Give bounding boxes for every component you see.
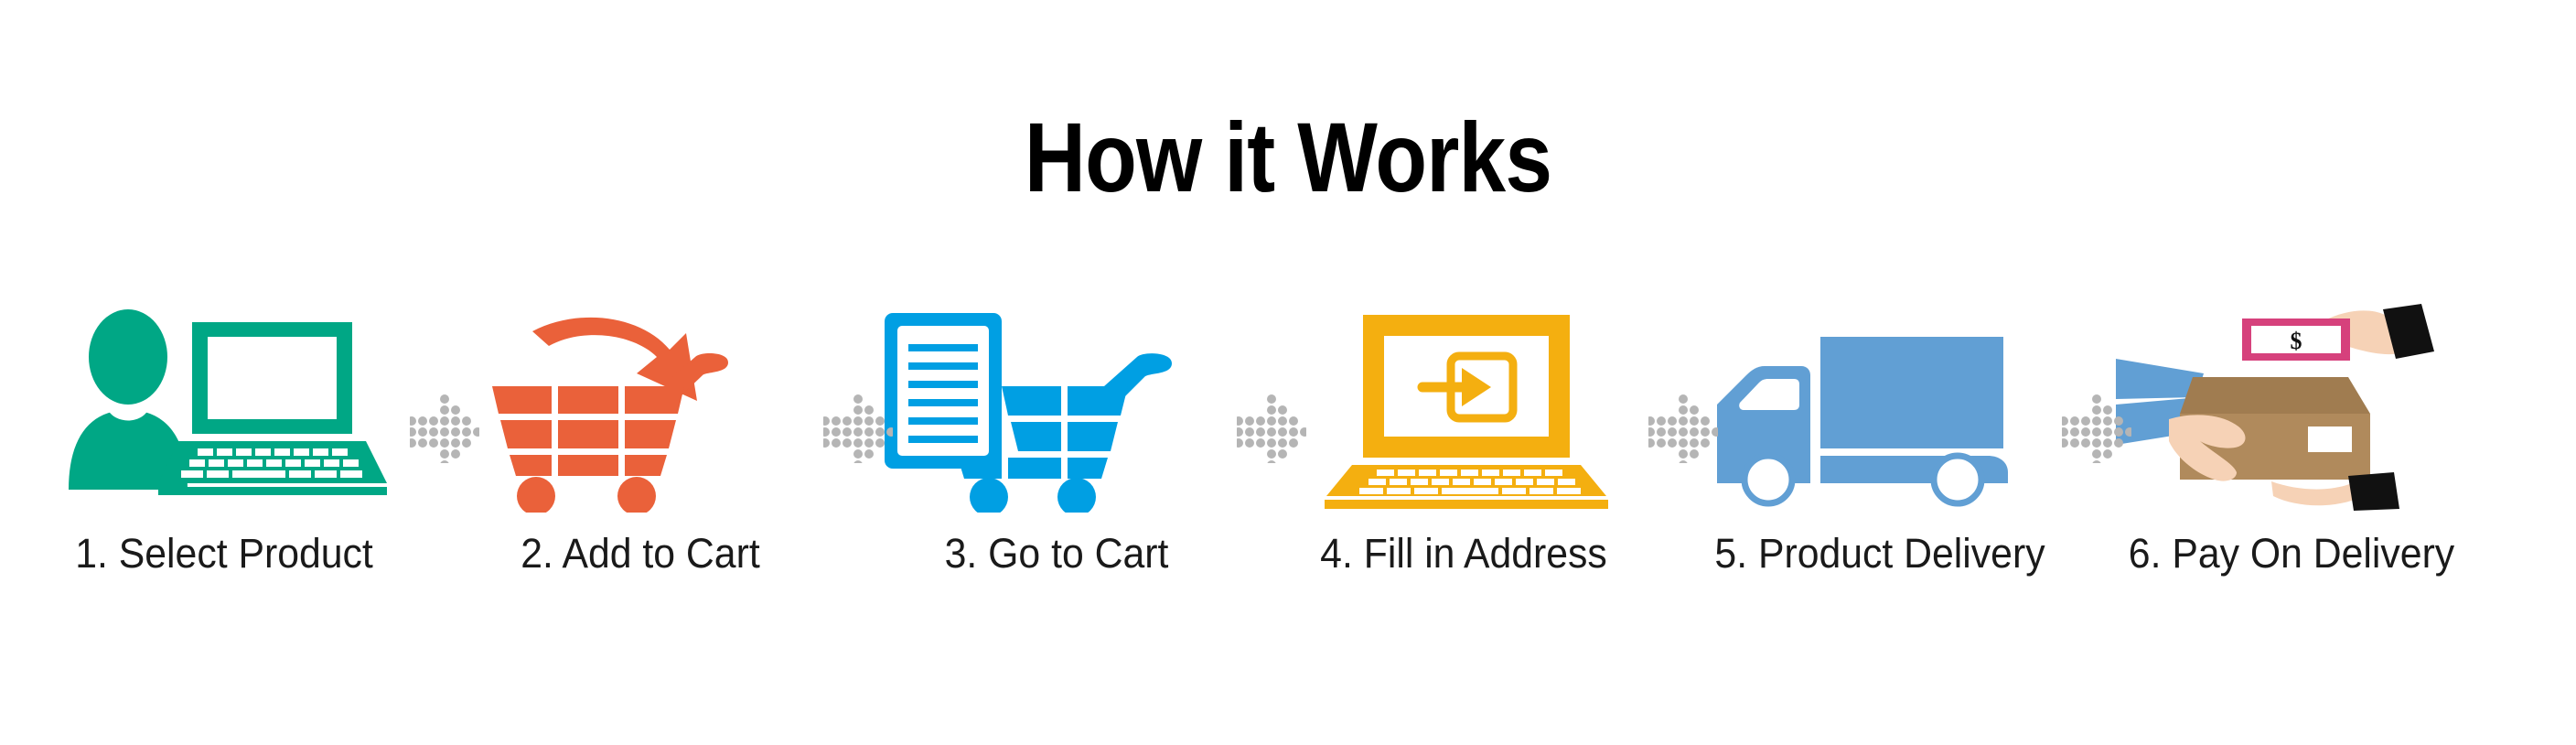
step-5-label: 5. Product Delivery xyxy=(1671,533,2088,574)
dot-arrow-right-icon xyxy=(1237,394,1306,463)
dot-arrow-right-icon xyxy=(1648,394,1718,463)
how-it-works-infographic: How it Works xyxy=(0,0,2576,745)
step-6-pay-on-delivery[interactable]: $ 6. Pay On Delivery xyxy=(2109,302,2474,632)
step-5-product-delivery[interactable]: 5. Product Delivery xyxy=(1697,302,2063,632)
shopping-cart-with-curved-arrow-icon xyxy=(457,302,823,513)
steps-row: 1. Select Product xyxy=(0,302,2576,632)
step-6-label: 6. Pay On Delivery xyxy=(2083,533,2500,574)
hands-exchanging-box-and-cash-icon: $ xyxy=(2109,302,2474,513)
dot-arrow-right-icon xyxy=(410,394,479,463)
dot-arrow-right-icon xyxy=(2062,394,2131,463)
step-4-fill-in-address[interactable]: 4. Fill in Address xyxy=(1281,302,1647,632)
step-2-label: 2. Add to Cart xyxy=(432,533,849,574)
step-3-label: 3. Go to Cart xyxy=(848,533,1265,574)
delivery-truck-icon xyxy=(1697,302,2063,513)
person-with-laptop-icon xyxy=(41,302,407,513)
document-with-shopping-cart-icon xyxy=(874,302,1240,513)
banknote-dollar-symbol: $ xyxy=(2291,328,2302,354)
step-3-go-to-cart[interactable]: 3. Go to Cart xyxy=(874,302,1240,632)
laptop-with-login-arrow-icon xyxy=(1281,302,1647,513)
step-1-label: 1. Select Product xyxy=(16,533,433,574)
dot-arrow-right-icon xyxy=(823,394,893,463)
step-4-label: 4. Fill in Address xyxy=(1255,533,1672,574)
step-1-select-product[interactable]: 1. Select Product xyxy=(41,302,407,632)
step-2-add-to-cart[interactable]: 2. Add to Cart xyxy=(457,302,823,632)
page-title: How it Works xyxy=(180,108,2396,207)
